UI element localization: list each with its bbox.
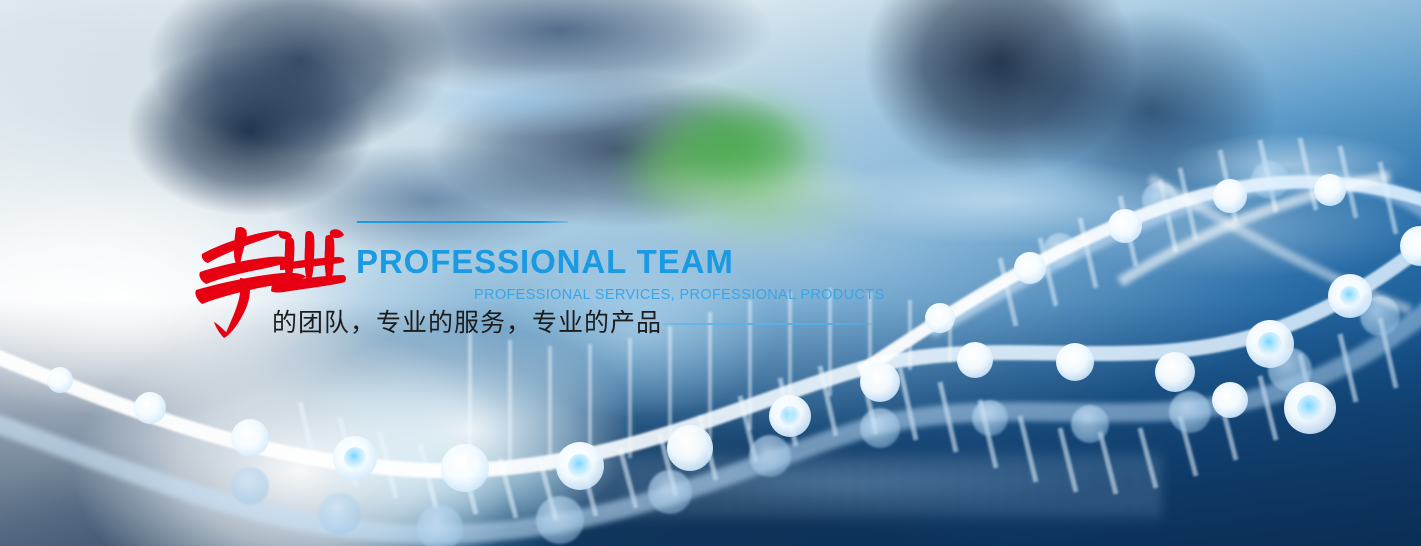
page-title: PROFESSIONAL TEAM (356, 243, 734, 281)
rule-below-tagline (662, 323, 873, 325)
subtitle: PROFESSIONAL SERVICES, PROFESSIONAL PROD… (474, 286, 884, 304)
banner-copy: PROFESSIONAL TEAM PROFESSIONAL SERVICES,… (0, 0, 1421, 546)
chinese-tagline: 的团队，专业的服务，专业的产品 (272, 307, 662, 339)
rule-above-headline (357, 221, 568, 223)
hero-banner: PROFESSIONAL TEAM PROFESSIONAL SERVICES,… (0, 0, 1421, 546)
